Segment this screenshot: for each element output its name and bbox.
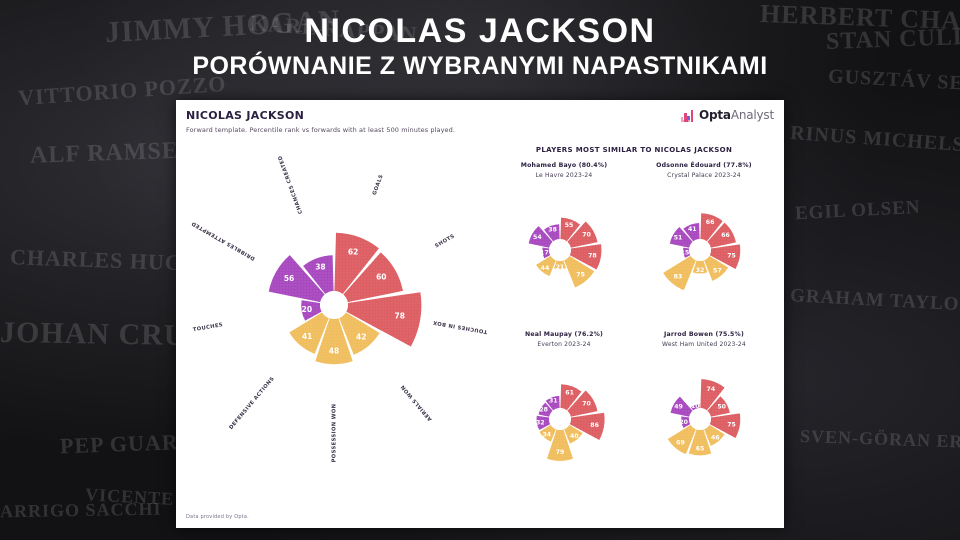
mini-pizza-bowen-svg: 745075466569204910 — [640, 359, 760, 479]
slice-value: 46 — [711, 434, 720, 441]
category-label: DEFENSIVE ACTIONS — [228, 376, 276, 431]
mini-header-bowen: Jarrod Bowen (75.5%) West Ham United 202… — [634, 331, 774, 348]
mini-player-name: Neal Maupay (76.2%) — [494, 331, 634, 338]
category-label: SHOTS — [434, 233, 456, 249]
mini-pizza-edouard-svg: 666675573283155141 — [640, 190, 760, 310]
mini-pizza-bowen: 745075466569204910 — [640, 359, 760, 479]
opta-analyst-logo: OptaAnalyst — [681, 108, 774, 122]
main-pizza-chart: 62GOALS60SHOTS78TOUCHES IN BOX42AERIALS … — [184, 155, 484, 455]
pizza-center-hole — [549, 239, 571, 261]
mini-player-team: Everton 2023-24 — [494, 341, 634, 348]
mini-header-edouard: Odsonne Édouard (77.8%) Crystal Palace 2… — [634, 162, 774, 179]
slice-value: 75 — [727, 253, 736, 260]
slice-value: 74 — [707, 386, 716, 393]
slice-value: 42 — [356, 332, 366, 341]
mini-player-name: Odsonne Édouard (77.8%) — [634, 162, 774, 169]
category-label: DRIBBLES ATTEMPTED — [190, 220, 256, 262]
slice-value: 83 — [674, 273, 683, 280]
slice-value: 40 — [570, 433, 579, 440]
opta-bars-icon — [681, 108, 695, 122]
pizza-center-hole — [689, 408, 711, 430]
mini-player-name: Mohamed Bayo (80.4%) — [494, 162, 634, 169]
slice-value: 20 — [679, 419, 688, 426]
main-pizza-svg: 62GOALS60SHOTS78TOUCHES IN BOX42AERIALS … — [184, 155, 484, 455]
category-label: GOALS — [372, 174, 385, 196]
header: NICOLAS JACKSON PORÓWNANIE Z WYBRANYMI N… — [0, 14, 960, 79]
slice-value: 17 — [540, 250, 549, 257]
slice-value: 48 — [329, 346, 339, 355]
chalk-name: SVEN-GÖRAN ERIKSSON — [800, 426, 960, 455]
mini-pizza-maupay: 617086407934322831 — [500, 359, 620, 479]
slice-value: 15 — [681, 250, 690, 257]
slice-value: 55 — [565, 222, 574, 229]
card-subtitle: Forward template. Percentile rank vs for… — [186, 126, 455, 134]
category-label: POSSESSION WON — [332, 404, 338, 463]
slice-value: 21 — [556, 264, 565, 271]
opta-product: Analyst — [731, 108, 774, 122]
slice-value: 69 — [676, 439, 685, 446]
slice-value: 34 — [542, 432, 551, 439]
slice-value: 32 — [536, 419, 545, 426]
mini-header-maupay: Neal Maupay (76.2%) Everton 2023-24 — [494, 331, 634, 348]
mini-pizza-bayo-svg: 557078752144175438 — [500, 190, 620, 310]
chalk-name: ALF RAMSEY — [30, 137, 198, 170]
slice-value: 65 — [696, 445, 705, 452]
slice-value: 38 — [315, 263, 325, 272]
slice-value: 57 — [713, 268, 722, 275]
category-label: TOUCHES — [193, 322, 224, 333]
slice-value: 44 — [541, 265, 550, 272]
card-footer: Data provided by Opta. — [186, 514, 249, 520]
slice-value: 70 — [582, 232, 591, 239]
mini-pizza-maupay-svg: 617086407934322831 — [500, 359, 620, 479]
slice-value: 61 — [565, 390, 574, 397]
slice-value: 78 — [588, 253, 597, 260]
slice-value: 66 — [706, 219, 715, 226]
page-title: NICOLAS JACKSON — [0, 14, 960, 50]
category-label: CHANCES CREATED — [277, 154, 304, 214]
slice-value: 38 — [548, 227, 557, 234]
card-title: NICOLAS JACKSON — [186, 109, 455, 122]
mini-player-team: West Ham United 2023-24 — [634, 341, 774, 348]
chalk-name: ARRIGO SACCHI — [0, 499, 162, 523]
category-label: TOUCHES IN BOX — [432, 319, 487, 335]
category-label: AERIALS WON — [400, 383, 434, 421]
slice-value: 86 — [590, 422, 599, 429]
slice-value: 31 — [549, 397, 558, 404]
slice-value: 41 — [688, 226, 697, 233]
slice-value: 66 — [721, 232, 730, 239]
opta-brand: Opta — [699, 108, 731, 122]
slice-value: 75 — [727, 422, 736, 429]
slice-value: 62 — [348, 247, 358, 256]
slice-value: 41 — [302, 332, 312, 341]
slice-value: 56 — [284, 274, 294, 283]
slice-value: 49 — [674, 404, 683, 411]
pizza-center-hole — [689, 239, 711, 261]
mini-player-name: Jarrod Bowen (75.5%) — [634, 331, 774, 338]
slice-value: 60 — [376, 273, 386, 282]
chalk-name: RINUS MICHELS — [789, 122, 960, 157]
mini-player-team: Le Havre 2023-24 — [494, 172, 634, 179]
mini-player-team: Crystal Palace 2023-24 — [634, 172, 774, 179]
slice-value: 75 — [576, 272, 585, 279]
slice-value: 50 — [717, 403, 726, 410]
slice-value: 32 — [696, 267, 705, 274]
slice-value: 51 — [674, 234, 683, 241]
slice-value: 78 — [395, 312, 405, 321]
mini-header-bayo: Mohamed Bayo (80.4%) Le Havre 2023-24 — [494, 162, 634, 179]
mini-pizza-bayo: 557078752144175438 — [500, 190, 620, 310]
slice-value: 54 — [533, 234, 542, 241]
slice-value: 79 — [556, 449, 565, 456]
chalk-name: GRAHAM TAYLOR — [790, 285, 960, 317]
pizza-center-hole — [320, 291, 348, 319]
slice-value: 70 — [582, 401, 591, 408]
page-subtitle: PORÓWNANIE Z WYBRANYMI NAPASTNIKAMI — [0, 53, 960, 79]
chalk-name: EGIL OLSEN — [795, 197, 922, 226]
card-header: NICOLAS JACKSON Forward template. Percen… — [186, 109, 455, 134]
slice-value: 28 — [539, 407, 548, 414]
slice-value: 20 — [302, 305, 312, 314]
pizza-center-hole — [549, 408, 571, 430]
similar-players-heading: PLAYERS MOST SIMILAR TO NICOLAS JACKSON — [494, 146, 774, 154]
mini-pizza-edouard: 666675573283155141 — [640, 190, 760, 310]
analysis-card: NICOLAS JACKSON Forward template. Percen… — [176, 100, 784, 528]
opta-logo-text: OptaAnalyst — [699, 108, 774, 122]
